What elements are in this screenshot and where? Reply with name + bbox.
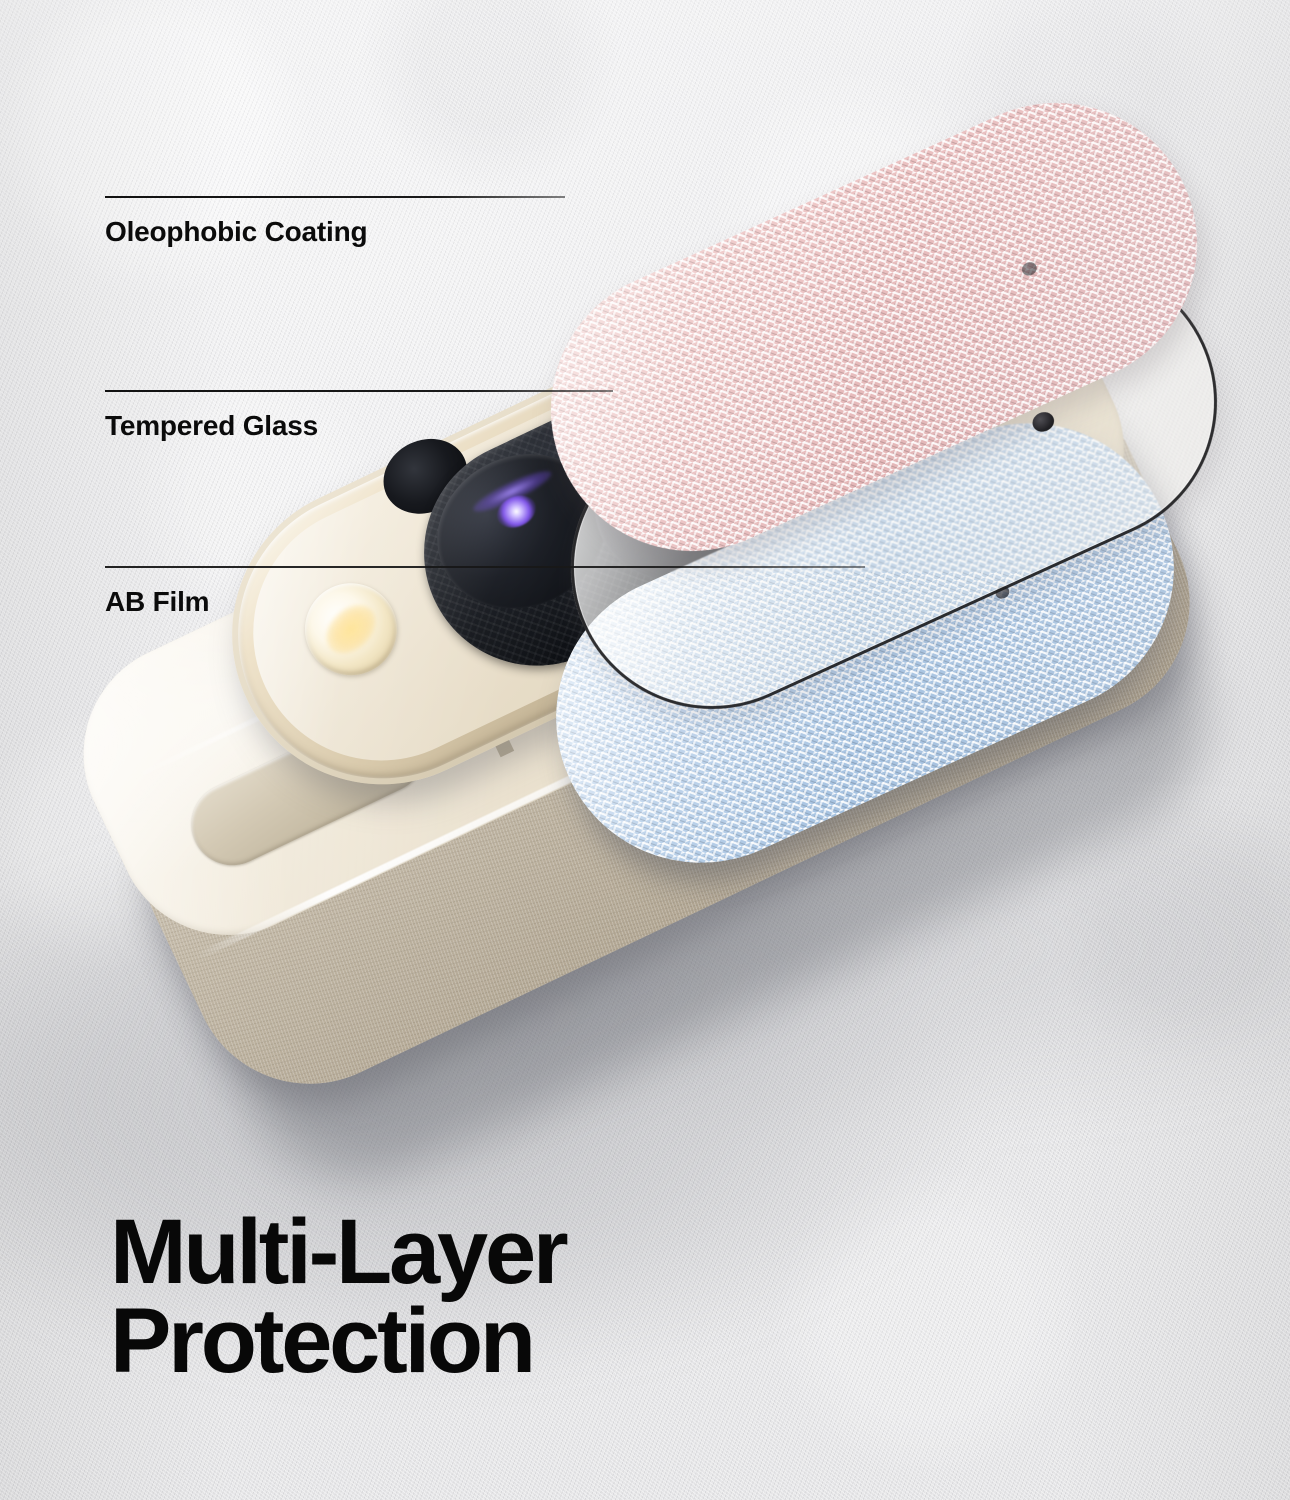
- page-title-line-1: Multi-Layer: [110, 1201, 566, 1303]
- product-feature-graphic: Oleophobic Coating Tempered Glass AB Fil…: [0, 0, 1290, 1500]
- callout-label: Tempered Glass: [105, 410, 318, 442]
- callout-leader-line: [105, 196, 565, 198]
- flash-core: [317, 595, 385, 663]
- callout-label: Oleophobic Coating: [105, 216, 367, 248]
- page-title: Multi-Layer Protection: [110, 1208, 566, 1386]
- page-title-line-2: Protection: [110, 1297, 566, 1386]
- callout-leader-line: [105, 566, 865, 568]
- callout-leader-line: [105, 390, 613, 392]
- callout-label: AB Film: [105, 586, 209, 618]
